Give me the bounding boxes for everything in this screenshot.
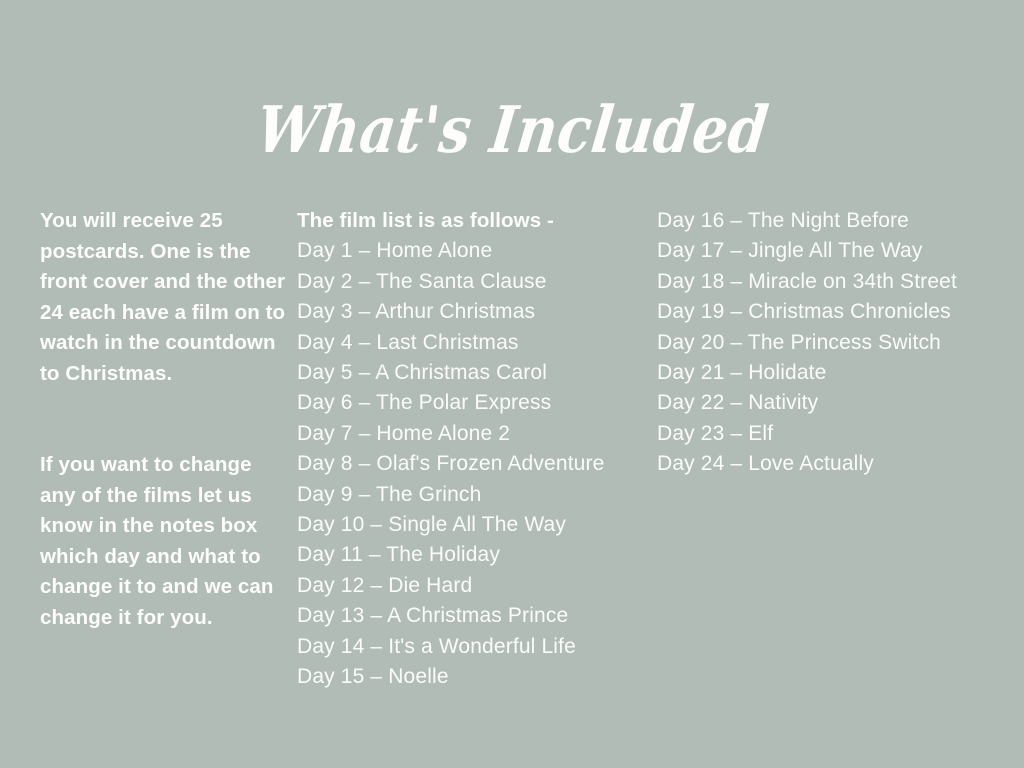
film-list-column-two: Day 16 – The Night BeforeDay 17 – Jingle… — [657, 206, 1017, 480]
film-list-item: Day 16 – The Night Before — [657, 206, 1017, 236]
page-title: What's Included — [252, 91, 772, 169]
film-list-item: Day 19 – Christmas Chronicles — [657, 297, 1017, 327]
film-list-item: Day 20 – The Princess Switch — [657, 328, 1017, 358]
film-list-item: Day 10 – Single All The Way — [297, 510, 647, 540]
film-list-item: Day 13 – A Christmas Prince — [297, 601, 647, 631]
intro-text-column: You will receive 25 postcards. One is th… — [40, 206, 290, 633]
poster-canvas: What's Included You will receive 25 post… — [0, 0, 1024, 768]
film-list-item: Day 7 – Home Alone 2 — [297, 419, 647, 449]
film-list-item: Day 22 – Nativity — [657, 388, 1017, 418]
intro-paragraph-changes: If you want to change any of the films l… — [40, 450, 290, 633]
film-list-item: Day 23 – Elf — [657, 419, 1017, 449]
film-list-item: Day 4 – Last Christmas — [297, 328, 647, 358]
film-list-days-16-24: Day 16 – The Night BeforeDay 17 – Jingle… — [657, 206, 1017, 480]
film-list-item: Day 11 – The Holiday — [297, 540, 647, 570]
film-list-item: Day 3 – Arthur Christmas — [297, 297, 647, 327]
film-list-item: Day 8 – Olaf's Frozen Adventure — [297, 449, 647, 479]
film-list-item: Day 9 – The Grinch — [297, 480, 647, 510]
page-title-container: What's Included — [0, 84, 1024, 176]
film-list-days-1-15: Day 1 – Home AloneDay 2 – The Santa Clau… — [297, 236, 647, 692]
film-list-item: Day 15 – Noelle — [297, 662, 647, 692]
film-list-item: Day 2 – The Santa Clause — [297, 267, 647, 297]
paragraph-spacer — [40, 389, 290, 450]
film-list-item: Day 17 – Jingle All The Way — [657, 236, 1017, 266]
film-list-item: Day 14 – It's a Wonderful Life — [297, 632, 647, 662]
film-list-item: Day 1 – Home Alone — [297, 236, 647, 266]
film-list-item: Day 24 – Love Actually — [657, 449, 1017, 479]
film-list-item: Day 21 – Holidate — [657, 358, 1017, 388]
film-list-item: Day 5 – A Christmas Carol — [297, 358, 647, 388]
film-list-heading: The film list is as follows - — [297, 206, 647, 236]
film-list-item: Day 6 – The Polar Express — [297, 388, 647, 418]
film-list-item: Day 12 – Die Hard — [297, 571, 647, 601]
intro-paragraph-postcards: You will receive 25 postcards. One is th… — [40, 206, 290, 389]
film-list-column-one: The film list is as follows - Day 1 – Ho… — [297, 206, 647, 693]
film-list-item: Day 18 – Miracle on 34th Street — [657, 267, 1017, 297]
